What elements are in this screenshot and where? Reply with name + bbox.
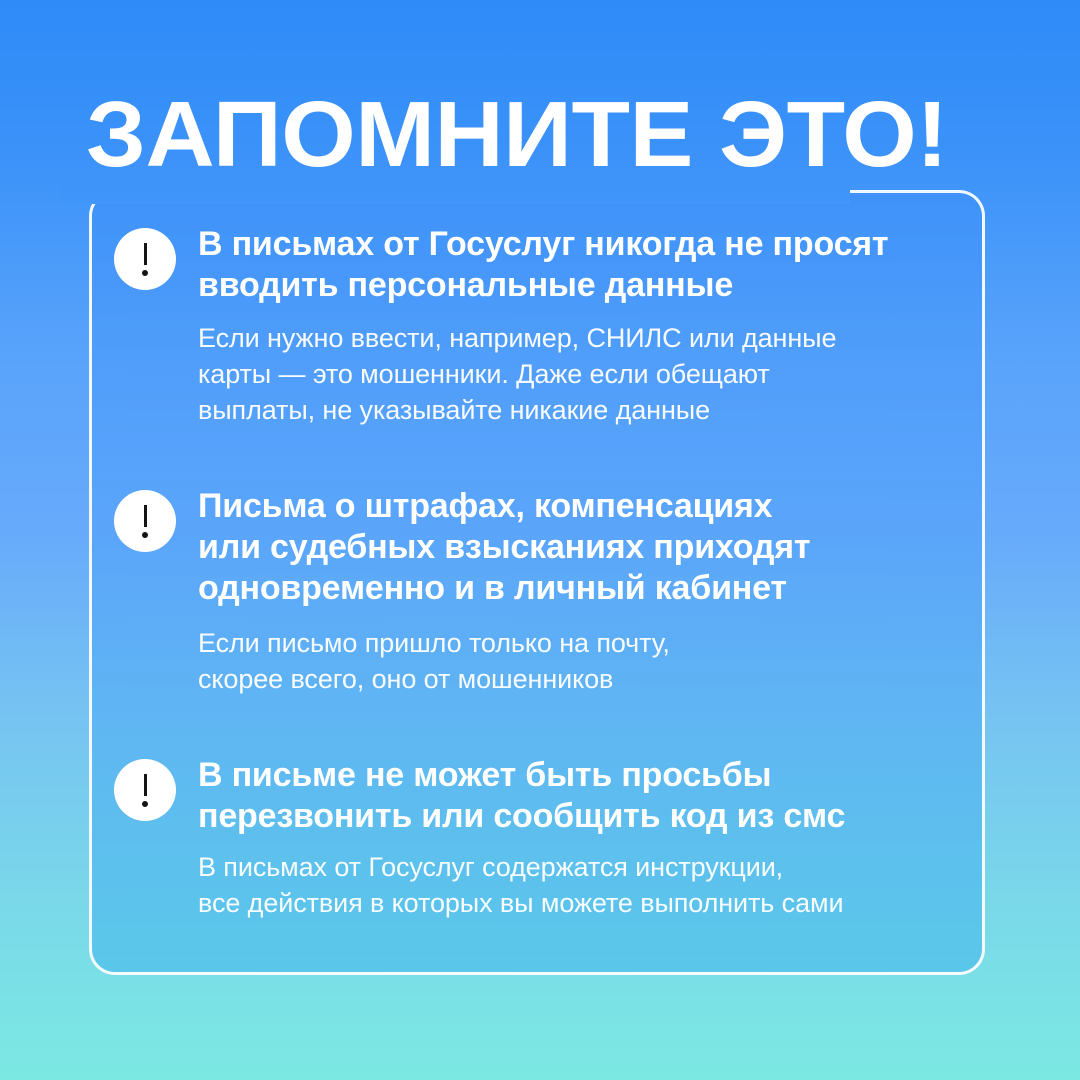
exclamation-bar bbox=[144, 774, 147, 796]
exclamation-dot bbox=[142, 270, 148, 276]
list-item-body: Письма о штрафах, компенсациях или судеб… bbox=[198, 486, 968, 697]
exclamation-circle-icon bbox=[114, 490, 176, 552]
list-item: Письма о штрафах, компенсациях или судеб… bbox=[89, 486, 985, 697]
tip-heading: В письмах от Госуслуг никогда не просят … bbox=[198, 224, 968, 306]
exclamation-bar bbox=[144, 505, 147, 527]
list-item-body: В письмах от Госуслуг никогда не просят … bbox=[198, 224, 968, 428]
tip-subtext: В письмах от Госуслуг содержатся инструк… bbox=[198, 849, 968, 921]
tip-subtext: Если нужно ввести, например, СНИЛС или д… bbox=[198, 320, 968, 428]
tip-heading: Письма о штрафах, компенсациях или судеб… bbox=[198, 486, 968, 609]
exclamation-circle-icon bbox=[114, 759, 176, 821]
exclamation-bar bbox=[144, 243, 147, 265]
tip-heading: В письме не может быть просьбы перезвони… bbox=[198, 755, 968, 837]
exclamation-dot bbox=[142, 801, 148, 807]
tips-list: В письмах от Госуслуг никогда не просят … bbox=[89, 190, 985, 975]
tip-subtext: Если письмо пришло только на почту, скор… bbox=[198, 625, 968, 697]
page-title: ЗАПОМНИТЕ ЭТО! bbox=[86, 88, 948, 181]
list-item-body: В письме не может быть просьбы перезвони… bbox=[198, 755, 968, 921]
exclamation-dot bbox=[142, 532, 148, 538]
list-item: В письмах от Госуслуг никогда не просят … bbox=[89, 224, 985, 428]
list-item: В письме не может быть просьбы перезвони… bbox=[89, 755, 985, 921]
exclamation-circle-icon bbox=[114, 228, 176, 290]
